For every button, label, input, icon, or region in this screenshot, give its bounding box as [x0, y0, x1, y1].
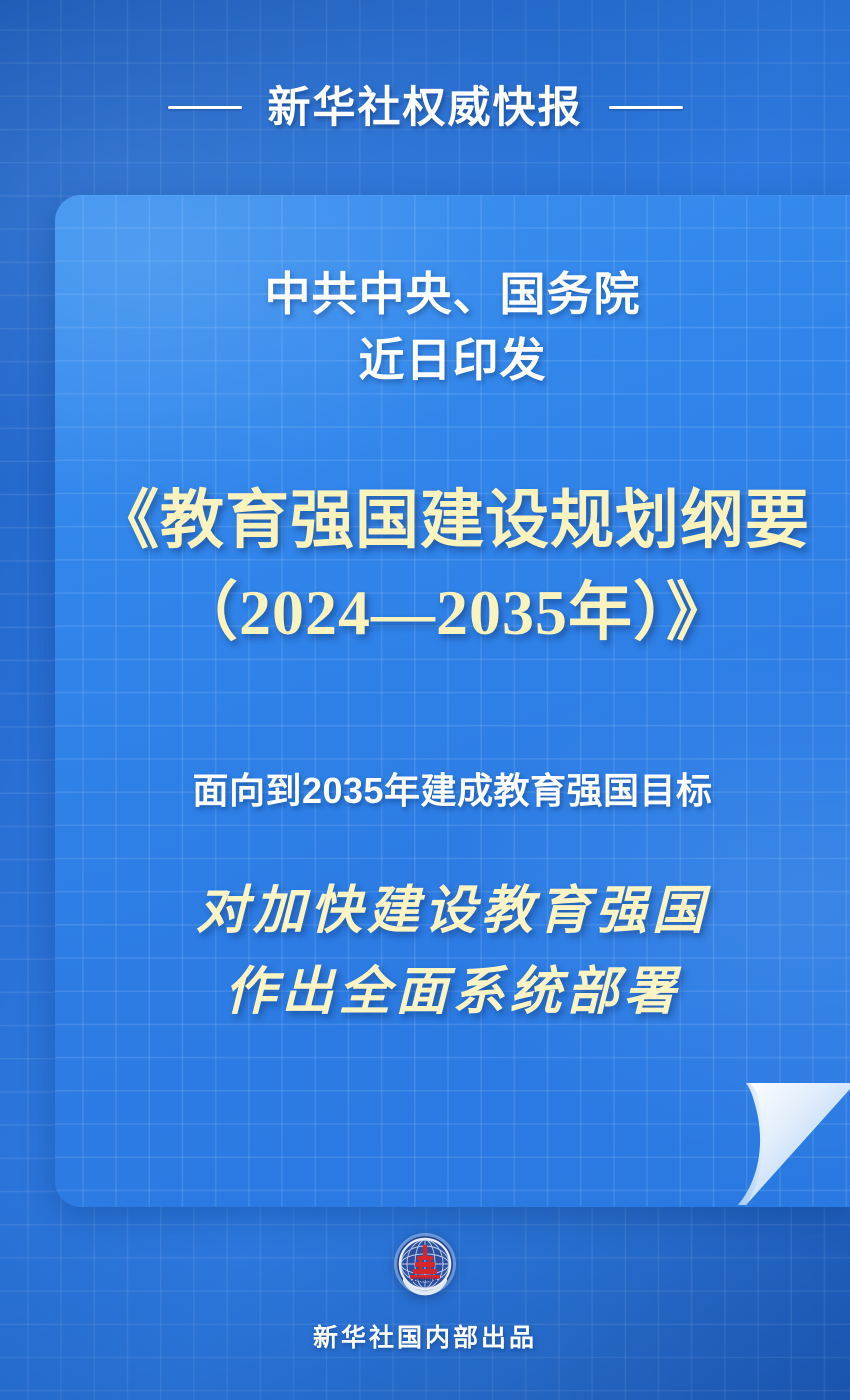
brush-line-1: 对加快建设教育强国	[55, 881, 850, 942]
goal-statement: 面向到2035年建成教育强国目标	[55, 770, 850, 812]
brush-calligraphy-block: 对加快建设教育强国 作出全面系统部署	[55, 881, 850, 1024]
xinhua-logo-icon: XINHUA	[393, 1232, 457, 1296]
card-content: 中共中央、国务院 近日印发 《教育强国建设规划纲要 （2024—2035年）》 …	[55, 195, 850, 1207]
lead-line-1: 中共中央、国务院	[55, 267, 850, 321]
header-rule-right-icon	[609, 106, 683, 109]
lead-line-2: 近日印发	[55, 333, 850, 387]
logo-wordmark: XINHUA	[412, 1278, 439, 1284]
goal-line: 面向到2035年建成教育强国目标	[55, 770, 850, 812]
header-banner: 新华社权威快报	[0, 62, 850, 146]
brush-line-2: 作出全面系统部署	[55, 962, 850, 1023]
header-rule-left-icon	[168, 106, 242, 109]
footer-credit: 新华社国内部出品	[0, 1318, 850, 1354]
lead-block: 中共中央、国务院 近日印发	[55, 267, 850, 388]
content-card: 中共中央、国务院 近日印发 《教育强国建设规划纲要 （2024—2035年）》 …	[55, 195, 850, 1207]
document-title-line-1: 《教育强国建设规划纲要	[55, 483, 850, 559]
poster-root: 新华社权威快报 中共中央、国务院 近日印发 《教育强国建设规划纲要 （2024—…	[0, 0, 850, 1400]
document-title-line-2: （2024—2035年）》	[55, 575, 850, 651]
header-title: 新华社权威快报	[268, 73, 583, 135]
document-title-block: 《教育强国建设规划纲要 （2024—2035年）》	[55, 483, 850, 650]
footer-block: XINHUA 新华社国内部出品	[0, 1232, 850, 1354]
